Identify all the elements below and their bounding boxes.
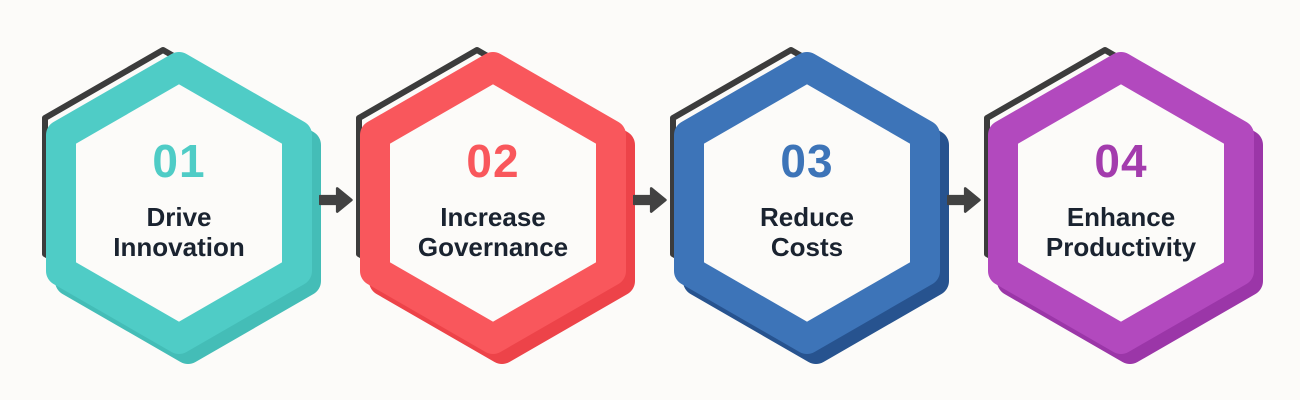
- arrow-shape: [948, 188, 979, 211]
- process-step-01[interactable]: 01Drive Innovation: [39, 30, 319, 370]
- process-step-02[interactable]: 02Increase Governance: [353, 30, 633, 370]
- hexagon-main-ring: [375, 67, 611, 339]
- hexagon-main-ring: [61, 67, 297, 339]
- arrow-shape: [634, 188, 665, 211]
- arrow-right-icon: [633, 185, 667, 215]
- process-step-04[interactable]: 04Enhance Productivity: [981, 30, 1261, 370]
- arrow-right-icon: [947, 185, 981, 215]
- arrow-right-icon: [319, 185, 353, 215]
- hexagon-main-ring: [689, 67, 925, 339]
- hexagon-graphic: [667, 30, 947, 370]
- hexagon-graphic: [353, 30, 633, 370]
- process-step-03[interactable]: 03Reduce Costs: [667, 30, 947, 370]
- hexagon-graphic: [981, 30, 1261, 370]
- hexagon-main-ring: [1003, 67, 1239, 339]
- connector-arrow-2: [627, 30, 673, 370]
- arrow-shape: [320, 188, 351, 211]
- connector-arrow-3: [941, 30, 987, 370]
- hexagon-graphic: [39, 30, 319, 370]
- process-flow: 01Drive Innovation02Increase Governance0…: [0, 0, 1300, 400]
- infographic-canvas: 01Drive Innovation02Increase Governance0…: [0, 0, 1300, 400]
- connector-arrow-1: [313, 30, 359, 370]
